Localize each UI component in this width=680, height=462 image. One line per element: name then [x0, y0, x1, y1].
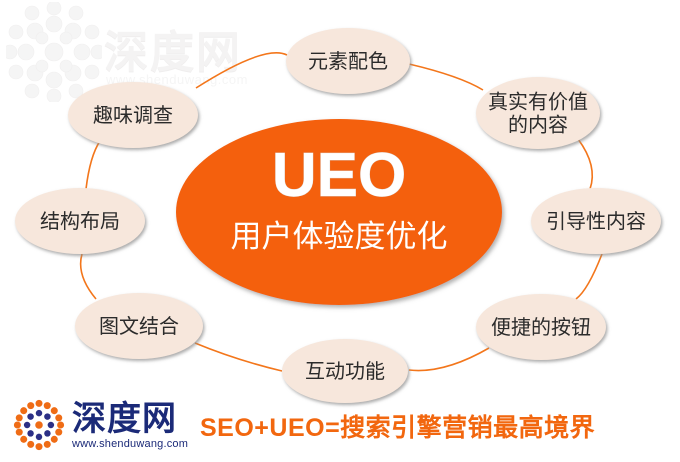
brand-lockup: 深度网 www.shenduwang.com — [12, 398, 188, 452]
connector-arc — [578, 139, 592, 189]
satellite-node[interactable]: 图文结合 — [75, 293, 203, 359]
footer-bar: 深度网 www.shenduwang.com SEO+UEO=搜索引擎营销最高境… — [0, 394, 680, 462]
satellite-node[interactable]: 结构布局 — [15, 188, 145, 254]
brand-name: 深度网 — [72, 402, 188, 436]
satellite-node[interactable]: 元素配色 — [286, 28, 410, 94]
connector-arc — [409, 348, 489, 371]
shenduwang-logo-icon — [12, 398, 66, 452]
satellite-node-label: 图文结合 — [99, 315, 179, 338]
brand-text-block: 深度网 www.shenduwang.com — [72, 402, 188, 450]
satellite-node-label: 的内容 — [508, 114, 568, 137]
satellite-node-label: 元素配色 — [308, 50, 388, 73]
connector-arc — [576, 254, 602, 299]
satellite-node-label: 结构布局 — [40, 210, 120, 233]
satellite-node-label: 互动功能 — [305, 360, 385, 383]
connector-arc — [409, 64, 483, 90]
satellite-node[interactable]: 引导性内容 — [531, 188, 661, 254]
satellite-node-label: 便捷的按钮 — [491, 316, 591, 339]
satellite-node-label: 趣味调查 — [93, 104, 173, 127]
ueo-diagram: UEO 用户体验度优化 元素配色真实有价值的内容引导性内容便捷的按钮互动功能图文… — [0, 0, 680, 462]
satellite-node[interactable]: 真实有价值的内容 — [476, 77, 600, 149]
center-node-ueo[interactable]: UEO 用户体验度优化 — [176, 119, 502, 305]
connector-arc — [196, 53, 287, 88]
center-node-title: UEO — [272, 141, 406, 210]
satellite-node[interactable]: 便捷的按钮 — [476, 294, 606, 360]
satellite-node[interactable]: 趣味调查 — [68, 82, 198, 148]
brand-url: www.shenduwang.com — [72, 438, 188, 450]
connector-arc — [86, 141, 100, 189]
connector-arc — [195, 343, 282, 371]
tagline-text: SEO+UEO=搜索引擎营销最高境界 — [200, 408, 595, 444]
satellite-node-label: 真实有价值 — [488, 91, 588, 114]
satellite-node-label: 引导性内容 — [546, 210, 646, 233]
center-node-subtitle: 用户体验度优化 — [231, 219, 448, 254]
infographic-canvas: 深度网 www.shenduwang.com UEO 用 — [0, 0, 680, 462]
connector-arc — [81, 254, 96, 299]
